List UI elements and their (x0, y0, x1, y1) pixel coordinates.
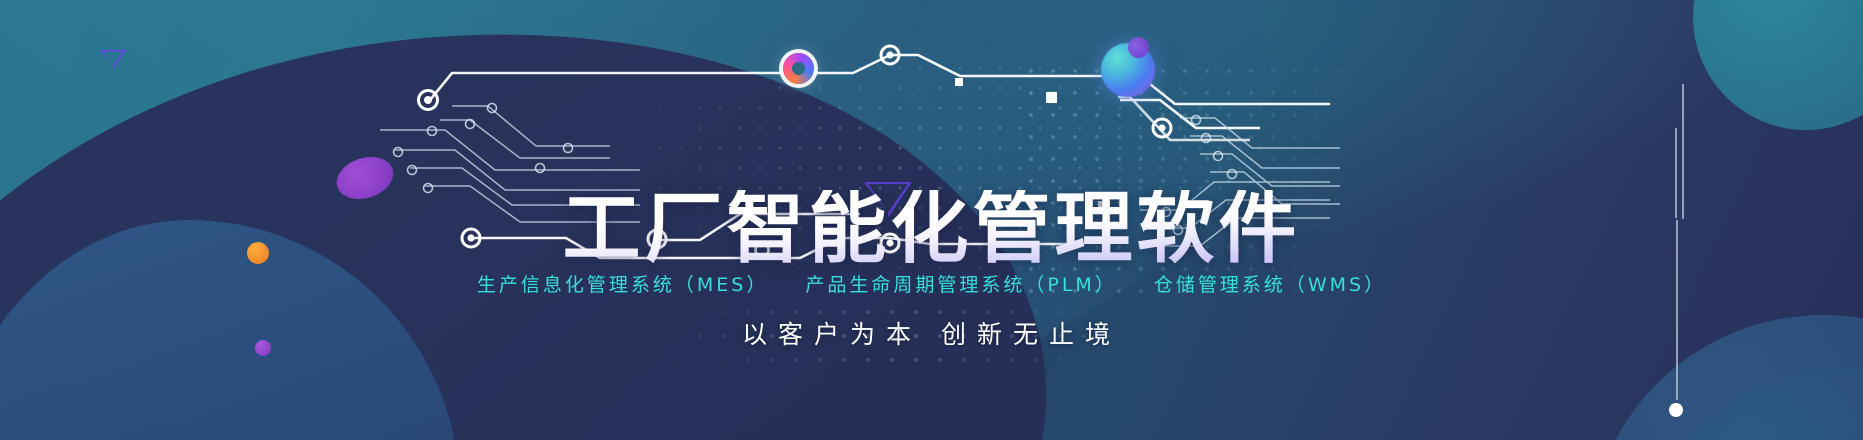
hero-banner: 工厂智能化管理软件 生产信息化管理系统（MES） 产品生命周期管理系统（PLM）… (0, 0, 1863, 440)
product-plm: 产品生命周期管理系统（PLM） (805, 274, 1116, 296)
product-mes: 生产信息化管理系统（MES） (477, 274, 768, 296)
banner-content: 工厂智能化管理软件 生产信息化管理系统（MES） 产品生命周期管理系统（PLM）… (0, 0, 1863, 440)
product-wms: 仓储管理系统（WMS） (1154, 274, 1386, 296)
tagline: 以客户为本 创新无止境 (0, 315, 1863, 351)
page-title: 工厂智能化管理软件 (0, 190, 1863, 268)
product-line-list: 生产信息化管理系统（MES） 产品生命周期管理系统（PLM） 仓储管理系统（WM… (0, 270, 1863, 297)
